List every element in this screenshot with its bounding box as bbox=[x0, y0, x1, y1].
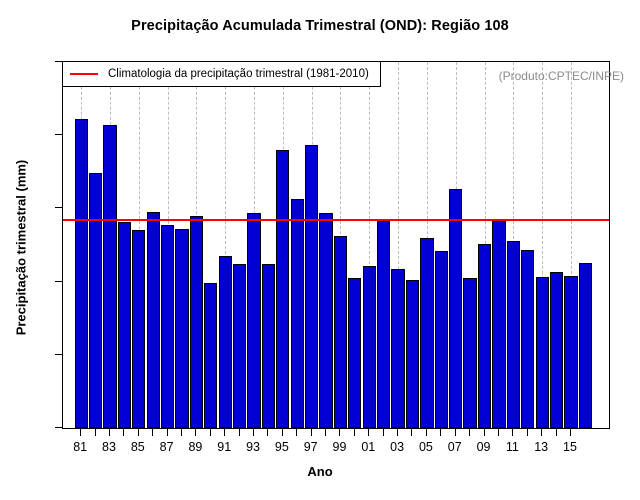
bar bbox=[75, 119, 88, 428]
x-tick-mark bbox=[541, 429, 542, 436]
x-tick-label: 01 bbox=[353, 440, 383, 454]
x-tick-label: 91 bbox=[209, 440, 239, 454]
x-tick-mark bbox=[426, 429, 427, 436]
x-tick-label: 09 bbox=[469, 440, 499, 454]
x-tick-mark bbox=[411, 429, 412, 436]
chart-figure: Precipitação Acumulada Trimestral (OND):… bbox=[0, 0, 640, 500]
bar bbox=[348, 278, 361, 428]
bar bbox=[449, 189, 462, 428]
x-tick-mark bbox=[109, 429, 110, 436]
x-tick-mark bbox=[123, 429, 124, 436]
x-tick-mark bbox=[181, 429, 182, 436]
x-tick-label: 99 bbox=[324, 440, 354, 454]
x-tick-mark bbox=[325, 429, 326, 436]
bar bbox=[377, 221, 390, 428]
x-tick-label: 87 bbox=[152, 440, 182, 454]
bar bbox=[420, 238, 433, 428]
bar bbox=[550, 272, 563, 428]
chart-title: Precipitação Acumulada Trimestral (OND):… bbox=[0, 18, 640, 34]
x-tick-label: 89 bbox=[180, 440, 210, 454]
y-tick-mark bbox=[55, 61, 62, 62]
bar bbox=[190, 216, 203, 428]
x-tick-mark bbox=[368, 429, 369, 436]
x-tick-mark bbox=[152, 429, 153, 436]
bar bbox=[363, 266, 376, 428]
bar bbox=[233, 264, 246, 428]
x-tick-label: 97 bbox=[296, 440, 326, 454]
legend-line-swatch bbox=[70, 73, 98, 75]
bar bbox=[89, 173, 102, 428]
bar bbox=[161, 225, 174, 428]
x-tick-label: 83 bbox=[94, 440, 124, 454]
bar bbox=[247, 213, 260, 428]
x-tick-label: 81 bbox=[65, 440, 95, 454]
bar bbox=[406, 280, 419, 428]
climatology-reference-line bbox=[63, 219, 609, 221]
x-tick-mark bbox=[570, 429, 571, 436]
x-tick-label: 07 bbox=[440, 440, 470, 454]
y-axis-label: Precipitação trimestral (mm) bbox=[14, 88, 29, 408]
x-tick-label: 85 bbox=[123, 440, 153, 454]
bar bbox=[132, 230, 145, 428]
bar bbox=[103, 125, 116, 428]
x-tick-mark bbox=[397, 429, 398, 436]
x-tick-mark bbox=[224, 429, 225, 436]
y-tick-mark bbox=[55, 134, 62, 135]
bar bbox=[118, 222, 131, 428]
bar bbox=[507, 241, 520, 428]
x-tick-mark bbox=[527, 429, 528, 436]
x-tick-label: 13 bbox=[526, 440, 556, 454]
x-tick-label: 05 bbox=[411, 440, 441, 454]
bar bbox=[319, 213, 332, 428]
x-tick-mark bbox=[80, 429, 81, 436]
plot-area bbox=[62, 61, 610, 429]
plot-inner bbox=[63, 62, 609, 428]
x-tick-label: 03 bbox=[382, 440, 412, 454]
x-tick-mark bbox=[311, 429, 312, 436]
bar bbox=[521, 250, 534, 428]
x-tick-mark bbox=[253, 429, 254, 436]
bar bbox=[334, 236, 347, 428]
bar bbox=[262, 264, 275, 428]
bar bbox=[204, 283, 217, 428]
x-tick-mark bbox=[484, 429, 485, 436]
bar bbox=[463, 278, 476, 428]
x-tick-label: 15 bbox=[555, 440, 585, 454]
bar bbox=[219, 256, 232, 428]
bar bbox=[147, 212, 160, 428]
x-tick-mark bbox=[383, 429, 384, 436]
y-tick-mark bbox=[55, 354, 62, 355]
legend-label: Climatologia da precipitação trimestral … bbox=[108, 68, 369, 80]
x-tick-label: 95 bbox=[267, 440, 297, 454]
x-tick-mark bbox=[267, 429, 268, 436]
legend: Climatologia da precipitação trimestral … bbox=[62, 61, 381, 87]
y-tick-mark bbox=[55, 207, 62, 208]
y-tick-mark bbox=[55, 281, 62, 282]
x-tick-label: 11 bbox=[497, 440, 527, 454]
x-axis-label: Ano bbox=[0, 464, 640, 479]
x-tick-mark bbox=[239, 429, 240, 436]
bar bbox=[276, 150, 289, 428]
x-tick-mark bbox=[167, 429, 168, 436]
bar bbox=[492, 221, 505, 428]
x-tick-mark bbox=[455, 429, 456, 436]
bar bbox=[564, 276, 577, 428]
x-tick-mark bbox=[469, 429, 470, 436]
bar bbox=[435, 251, 448, 428]
bar bbox=[536, 277, 549, 428]
x-tick-mark bbox=[282, 429, 283, 436]
x-tick-mark bbox=[339, 429, 340, 436]
x-tick-mark bbox=[296, 429, 297, 436]
bar bbox=[291, 199, 304, 428]
x-tick-mark bbox=[512, 429, 513, 436]
x-tick-mark bbox=[138, 429, 139, 436]
y-tick-mark bbox=[55, 427, 62, 428]
x-tick-mark bbox=[440, 429, 441, 436]
bar bbox=[391, 269, 404, 428]
x-tick-mark bbox=[556, 429, 557, 436]
bar bbox=[305, 145, 318, 428]
bar bbox=[478, 244, 491, 428]
x-tick-mark bbox=[498, 429, 499, 436]
bar bbox=[175, 229, 188, 428]
x-tick-mark bbox=[95, 429, 96, 436]
x-tick-mark bbox=[195, 429, 196, 436]
source-note: (Produto:CPTEC/INPE) bbox=[499, 69, 624, 83]
bar bbox=[579, 263, 592, 428]
x-tick-mark bbox=[210, 429, 211, 436]
x-tick-label: 93 bbox=[238, 440, 268, 454]
x-tick-mark bbox=[354, 429, 355, 436]
